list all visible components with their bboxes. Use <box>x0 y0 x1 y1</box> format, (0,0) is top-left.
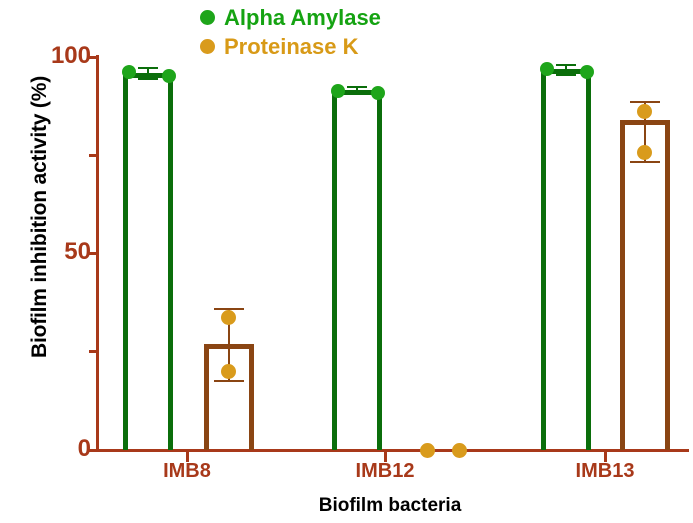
errorbar-cap-top-imb12-alpha-amylase <box>347 86 367 88</box>
chart-legend: Alpha Amylase Proteinase K <box>200 4 381 62</box>
x-axis-line <box>96 449 689 452</box>
data-point-imb13-proteinase-k-1 <box>637 104 652 119</box>
data-point-imb8-proteinase-k-2 <box>221 364 236 379</box>
data-point-imb12-proteinase-k-2 <box>452 443 467 458</box>
legend-item-alpha-amylase: Alpha Amylase <box>200 4 381 31</box>
legend-label-proteinase-k: Proteinase K <box>224 34 359 60</box>
errorbar-cap-top-imb8-alpha-amylase <box>138 67 158 69</box>
legend-label-alpha-amylase: Alpha Amylase <box>224 5 381 31</box>
errorbar-cap-bottom-imb13-proteinase-k <box>630 161 660 163</box>
errorbar-cap-top-imb13-alpha-amylase <box>556 64 576 66</box>
bar-imb13-alpha-amylase <box>541 69 591 450</box>
bar-imb8-alpha-amylase <box>123 73 173 450</box>
legend-item-proteinase-k: Proteinase K <box>200 33 381 60</box>
x-tick-label-imb12: IMB12 <box>295 460 475 483</box>
x-axis-title: Biofilm bacteria <box>150 495 630 517</box>
errorbar-cap-bottom-imb8-alpha-amylase <box>138 78 158 80</box>
errorbar-cap-bottom-imb8-proteinase-k <box>214 380 244 382</box>
y-tick-label-0: 0 <box>0 435 91 463</box>
data-point-imb12-proteinase-k-1 <box>420 443 435 458</box>
errorbar-cap-bottom-imb13-alpha-amylase <box>556 74 576 76</box>
biofilm-inhibition-bar-chart: Alpha Amylase Proteinase K 100 50 0 IMB8… <box>0 0 693 523</box>
bar-imb13-proteinase-k <box>620 120 670 450</box>
errorbar-cap-top-imb13-proteinase-k <box>630 101 660 103</box>
data-point-imb8-proteinase-k-1 <box>221 310 236 325</box>
legend-marker-proteinase-k-icon <box>200 39 215 54</box>
legend-marker-alpha-amylase-icon <box>200 10 215 25</box>
bar-imb12-alpha-amylase <box>332 90 382 450</box>
data-point-imb8-alpha-amylase-1 <box>122 65 136 79</box>
data-point-imb13-alpha-amylase-1 <box>540 62 554 76</box>
data-point-imb12-alpha-amylase-2 <box>371 86 385 100</box>
data-point-imb8-alpha-amylase-2 <box>162 69 176 83</box>
data-point-imb13-alpha-amylase-2 <box>580 65 594 79</box>
data-point-imb12-alpha-amylase-1 <box>331 84 345 98</box>
y-tick-75 <box>89 154 98 157</box>
data-point-imb13-proteinase-k-2 <box>637 145 652 160</box>
y-axis-title: Biofilm inhibition activity (%) <box>28 7 52 427</box>
y-tick-25 <box>89 350 98 353</box>
x-tick-label-imb13: IMB13 <box>515 460 693 483</box>
x-tick-label-imb8: IMB8 <box>97 460 277 483</box>
